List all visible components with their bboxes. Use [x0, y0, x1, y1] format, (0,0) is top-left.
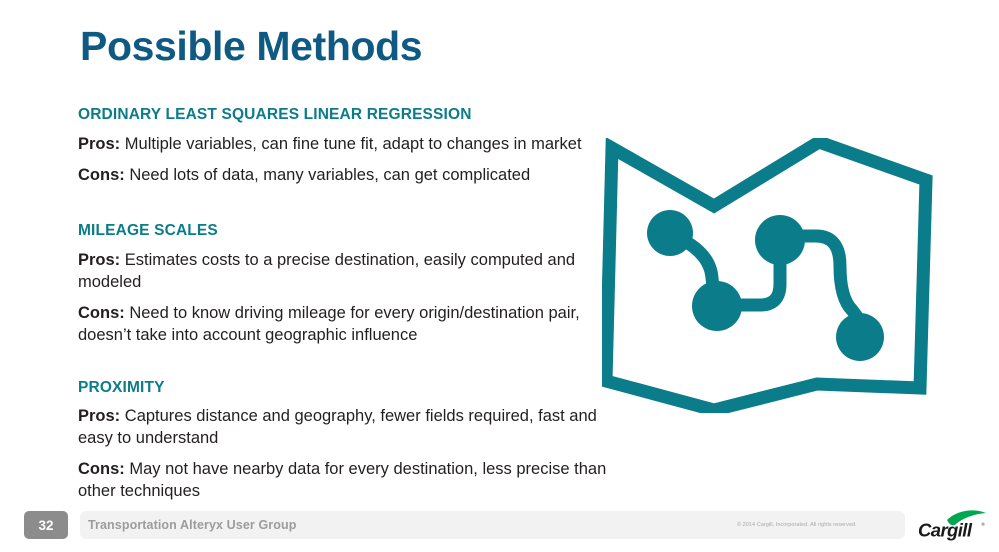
- pros-label: Pros:: [78, 135, 120, 153]
- pros-text: Estimates costs to a precise destination…: [78, 251, 575, 291]
- footer-title: Transportation Alteryx User Group: [88, 511, 296, 539]
- cons-line: Cons: May not have nearby data for every…: [78, 459, 618, 503]
- map-route-icon: [602, 138, 934, 413]
- pros-line: Pros: Captures distance and geography, f…: [78, 406, 618, 450]
- cargill-trademark: ®: [982, 521, 986, 527]
- section-heading: PROXIMITY: [78, 379, 618, 398]
- pros-text: Multiple variables, can fine tune fit, a…: [120, 135, 581, 153]
- route-node: [836, 313, 884, 361]
- slide: Possible Methods ORDINARY LEAST SQUARES …: [0, 0, 999, 552]
- page-number-badge: 32: [24, 511, 68, 539]
- cons-text: May not have nearby data for every desti…: [78, 460, 606, 500]
- section-heading: MILEAGE SCALES: [78, 222, 618, 241]
- cons-label: Cons:: [78, 460, 125, 478]
- route-node: [755, 215, 805, 265]
- cons-line: Cons: Need to know driving mileage for e…: [78, 303, 618, 347]
- section-proximity: PROXIMITY Pros: Captures distance and ge…: [78, 379, 618, 503]
- section-heading: ORDINARY LEAST SQUARES LINEAR REGRESSION: [78, 106, 618, 125]
- slide-footer: 32 Transportation Alteryx User Group © 2…: [0, 505, 999, 552]
- cons-line: Cons: Need lots of data, many variables,…: [78, 165, 618, 187]
- pros-label: Pros:: [78, 407, 120, 425]
- route-node: [647, 210, 693, 256]
- cons-label: Cons:: [78, 304, 125, 322]
- cons-text: Need to know driving mileage for every o…: [78, 304, 580, 344]
- content-column: ORDINARY LEAST SQUARES LINEAR REGRESSION…: [78, 106, 618, 503]
- cons-label: Cons:: [78, 166, 125, 184]
- page-title: Possible Methods: [80, 24, 422, 69]
- cargill-logo: Cargill ®: [916, 509, 990, 543]
- route-node: [692, 281, 742, 331]
- section-ordinary-least-squares: ORDINARY LEAST SQUARES LINEAR REGRESSION…: [78, 106, 618, 186]
- map-outline: [606, 142, 926, 410]
- cargill-wordmark: Cargill: [918, 520, 973, 541]
- copyright-text: © 2014 Cargill, Incorporated. All rights…: [737, 511, 857, 539]
- pros-text: Captures distance and geography, fewer f…: [78, 407, 597, 447]
- pros-line: Pros: Estimates costs to a precise desti…: [78, 250, 618, 294]
- section-mileage-scales: MILEAGE SCALES Pros: Estimates costs to …: [78, 222, 618, 346]
- pros-line: Pros: Multiple variables, can fine tune …: [78, 134, 618, 156]
- cons-text: Need lots of data, many variables, can g…: [125, 166, 530, 184]
- pros-label: Pros:: [78, 251, 120, 269]
